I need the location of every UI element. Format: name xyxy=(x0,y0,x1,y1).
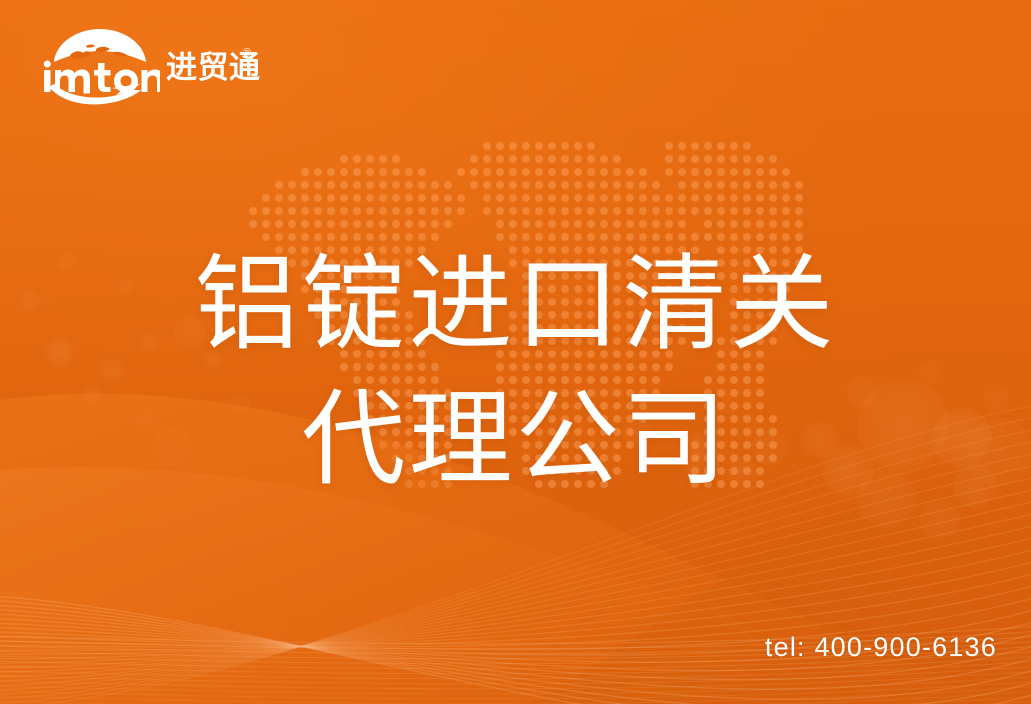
tel-text: tel: 400-900-6136 xyxy=(765,632,997,662)
headline-line-1: 铝锭进口清关 xyxy=(0,238,1031,373)
contact-phone[interactable]: tel: 400-900-6136 xyxy=(765,634,997,661)
brand-logo[interactable]: 进贸通 ® xyxy=(40,26,240,108)
headline-line-2: 代理公司 xyxy=(0,373,1031,508)
page-title: 铝锭进口清关 代理公司 xyxy=(0,238,1031,508)
logo-latin-wordmark xyxy=(42,60,160,94)
registered-trademark-icon: ® xyxy=(243,48,251,59)
promo-banner: 进贸通 ® 铝锭进口清关 代理公司 tel: 400-900-6136 xyxy=(0,0,1031,704)
globe-icon xyxy=(54,29,146,62)
